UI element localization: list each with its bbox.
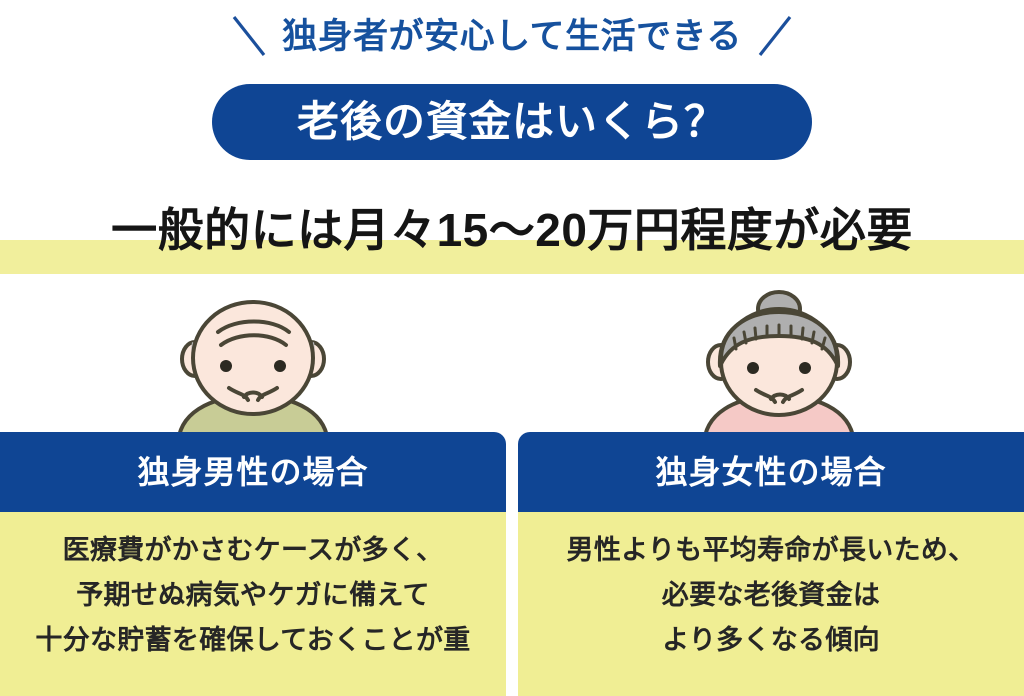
tagline: 独身者が安心して生活できる xyxy=(0,8,1024,64)
headline-pill: 老後の資金はいくら？ xyxy=(212,84,812,160)
tagline-text: 独身者が安心して生活できる xyxy=(282,19,742,54)
card-line: 必要な老後資金は xyxy=(662,573,880,618)
card-single-female: 独身女性の場合 男性よりも平均寿命が長いため、 必要な老後資金は より多くなる傾… xyxy=(518,432,1024,696)
elderly-woman-illustration xyxy=(694,296,864,446)
infographic-root: 独身者が安心して生活できる 老後の資金はいくら？ 一般的には月々15〜20万円程… xyxy=(0,0,1024,696)
card-header-single-female: 独身女性の場合 xyxy=(518,432,1024,512)
card-line: 予期せぬ病気やケガに備えて xyxy=(76,573,430,618)
card-title: 独身男性の場合 xyxy=(137,456,368,488)
card-title: 独身女性の場合 xyxy=(655,456,886,488)
backslash-mark-icon xyxy=(230,14,272,58)
card-line: より多くなる傾向 xyxy=(662,618,880,663)
card-single-male: 独身男性の場合 医療費がかさむケースが多く、 予期せぬ病気やケガに備えて 十分な… xyxy=(0,432,506,696)
subtitle: 一般的には月々15〜20万円程度が必要 xyxy=(0,196,1024,274)
cards-container: 独身男性の場合 医療費がかさむケースが多く、 予期せぬ病気やケガに備えて 十分な… xyxy=(0,432,1024,696)
slash-mark-icon xyxy=(752,14,794,58)
elderly-man-illustration xyxy=(168,296,338,446)
card-line: 男性よりも平均寿命が長いため、 xyxy=(567,528,976,573)
card-line: 十分な貯蓄を確保しておくことが重 xyxy=(35,618,470,663)
card-body-single-female: 男性よりも平均寿命が長いため、 必要な老後資金は より多くなる傾向 xyxy=(518,512,1024,696)
card-body-single-male: 医療費がかさむケースが多く、 予期せぬ病気やケガに備えて 十分な貯蓄を確保してお… xyxy=(0,512,506,696)
headline-pill-text: 老後の資金はいくら？ xyxy=(297,101,727,143)
subtitle-text: 一般的には月々15〜20万円程度が必要 xyxy=(0,196,1024,264)
card-header-single-male: 独身男性の場合 xyxy=(0,432,506,512)
card-line: 医療費がかさむケースが多く、 xyxy=(63,528,444,573)
